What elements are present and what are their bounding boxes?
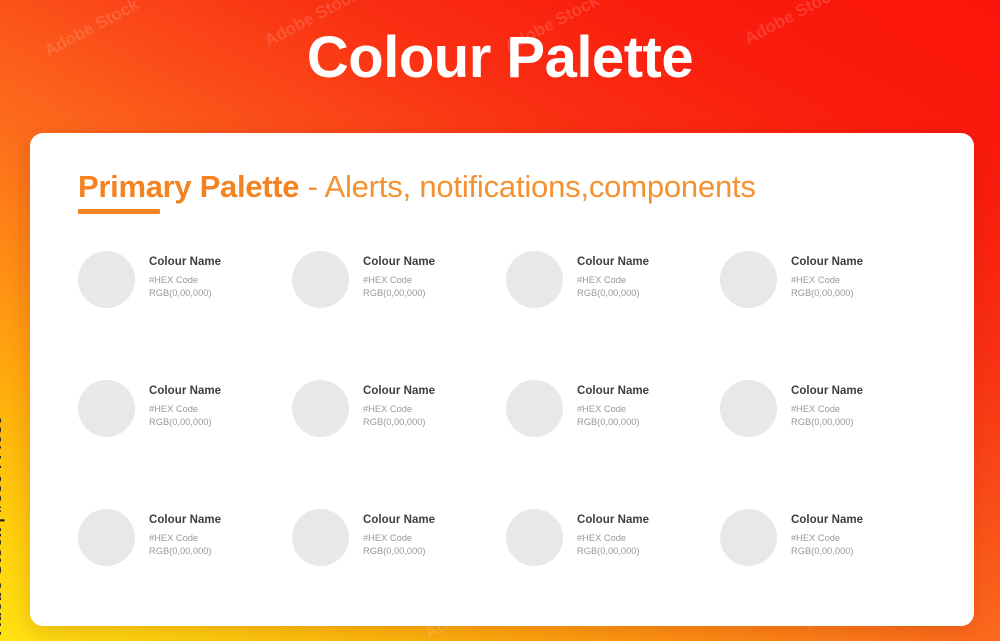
colour-rgb: RGB(0,00,000): [149, 416, 221, 430]
colour-rgb: RGB(0,00,000): [363, 545, 435, 559]
colour-circle-icon: [506, 251, 563, 308]
colour-info: Colour Name #HEX Code RGB(0,00,000): [577, 251, 649, 301]
colour-rgb: RGB(0,00,000): [363, 416, 435, 430]
colour-circle-icon: [78, 380, 135, 437]
colour-rgb: RGB(0,00,000): [363, 287, 435, 301]
colour-rgb: RGB(0,00,000): [791, 545, 863, 559]
colour-info: Colour Name #HEX Code RGB(0,00,000): [149, 509, 221, 559]
swatch-grid: Colour Name #HEX Code RGB(0,00,000) Colo…: [78, 251, 934, 638]
colour-info: Colour Name #HEX Code RGB(0,00,000): [791, 509, 863, 559]
colour-swatch[interactable]: Colour Name #HEX Code RGB(0,00,000): [506, 380, 720, 509]
section-heading: Primary Palette - Alerts, notifications,…: [78, 169, 756, 205]
colour-circle-icon: [720, 380, 777, 437]
colour-circle-icon: [720, 509, 777, 566]
colour-info: Colour Name #HEX Code RGB(0,00,000): [363, 251, 435, 301]
colour-swatch[interactable]: Colour Name #HEX Code RGB(0,00,000): [292, 251, 506, 380]
colour-name: Colour Name: [791, 384, 863, 400]
colour-circle-icon: [292, 380, 349, 437]
colour-swatch[interactable]: Colour Name #HEX Code RGB(0,00,000): [720, 509, 934, 638]
colour-rgb: RGB(0,00,000): [149, 287, 221, 301]
colour-info: Colour Name #HEX Code RGB(0,00,000): [363, 509, 435, 559]
colour-info: Colour Name #HEX Code RGB(0,00,000): [577, 380, 649, 430]
colour-circle-icon: [292, 509, 349, 566]
colour-name: Colour Name: [149, 255, 221, 271]
colour-hex: #HEX Code: [577, 274, 649, 288]
colour-swatch[interactable]: Colour Name #HEX Code RGB(0,00,000): [720, 380, 934, 509]
colour-name: Colour Name: [577, 513, 649, 529]
colour-circle-icon: [78, 251, 135, 308]
colour-name: Colour Name: [363, 513, 435, 529]
colour-swatch[interactable]: Colour Name #HEX Code RGB(0,00,000): [720, 251, 934, 380]
colour-name: Colour Name: [363, 255, 435, 271]
colour-circle-icon: [720, 251, 777, 308]
stock-watermark: Adobe Stock | #389444689: [0, 415, 6, 635]
colour-name: Colour Name: [363, 384, 435, 400]
colour-name: Colour Name: [577, 255, 649, 271]
colour-name: Colour Name: [577, 384, 649, 400]
colour-hex: #HEX Code: [363, 274, 435, 288]
palette-card: Primary Palette - Alerts, notifications,…: [30, 133, 974, 626]
colour-hex: #HEX Code: [791, 532, 863, 546]
colour-swatch[interactable]: Colour Name #HEX Code RGB(0,00,000): [78, 251, 292, 380]
colour-hex: #HEX Code: [363, 532, 435, 546]
colour-swatch[interactable]: Colour Name #HEX Code RGB(0,00,000): [292, 380, 506, 509]
colour-hex: #HEX Code: [577, 403, 649, 417]
colour-info: Colour Name #HEX Code RGB(0,00,000): [149, 251, 221, 301]
colour-rgb: RGB(0,00,000): [149, 545, 221, 559]
colour-swatch[interactable]: Colour Name #HEX Code RGB(0,00,000): [292, 509, 506, 638]
colour-info: Colour Name #HEX Code RGB(0,00,000): [149, 380, 221, 430]
colour-name: Colour Name: [791, 255, 863, 271]
colour-info: Colour Name #HEX Code RGB(0,00,000): [791, 380, 863, 430]
section-heading-light: - Alerts, notifications,components: [299, 169, 756, 204]
colour-rgb: RGB(0,00,000): [577, 287, 649, 301]
section-heading-strong: Primary Palette: [78, 169, 299, 204]
colour-rgb: RGB(0,00,000): [577, 545, 649, 559]
colour-rgb: RGB(0,00,000): [577, 416, 649, 430]
colour-circle-icon: [506, 380, 563, 437]
colour-info: Colour Name #HEX Code RGB(0,00,000): [791, 251, 863, 301]
colour-name: Colour Name: [149, 384, 221, 400]
colour-name: Colour Name: [791, 513, 863, 529]
colour-rgb: RGB(0,00,000): [791, 287, 863, 301]
colour-hex: #HEX Code: [577, 532, 649, 546]
colour-hex: #HEX Code: [791, 403, 863, 417]
colour-hex: #HEX Code: [791, 274, 863, 288]
colour-hex: #HEX Code: [149, 532, 221, 546]
colour-hex: #HEX Code: [363, 403, 435, 417]
colour-name: Colour Name: [149, 513, 221, 529]
colour-circle-icon: [292, 251, 349, 308]
colour-swatch[interactable]: Colour Name #HEX Code RGB(0,00,000): [506, 251, 720, 380]
heading-underline: [78, 209, 160, 214]
colour-swatch[interactable]: Colour Name #HEX Code RGB(0,00,000): [78, 509, 292, 638]
colour-hex: #HEX Code: [149, 403, 221, 417]
colour-rgb: RGB(0,00,000): [791, 416, 863, 430]
colour-circle-icon: [506, 509, 563, 566]
colour-hex: #HEX Code: [149, 274, 221, 288]
colour-swatch[interactable]: Colour Name #HEX Code RGB(0,00,000): [78, 380, 292, 509]
page-title-text: Colour Palette: [307, 28, 693, 89]
colour-swatch[interactable]: Colour Name #HEX Code RGB(0,00,000): [506, 509, 720, 638]
colour-circle-icon: [78, 509, 135, 566]
poster-canvas: Adobe Stock Adobe Stock Adobe Stock Adob…: [0, 0, 1000, 641]
page-title: Colour Palette: [0, 28, 1000, 89]
colour-info: Colour Name #HEX Code RGB(0,00,000): [363, 380, 435, 430]
colour-info: Colour Name #HEX Code RGB(0,00,000): [577, 509, 649, 559]
